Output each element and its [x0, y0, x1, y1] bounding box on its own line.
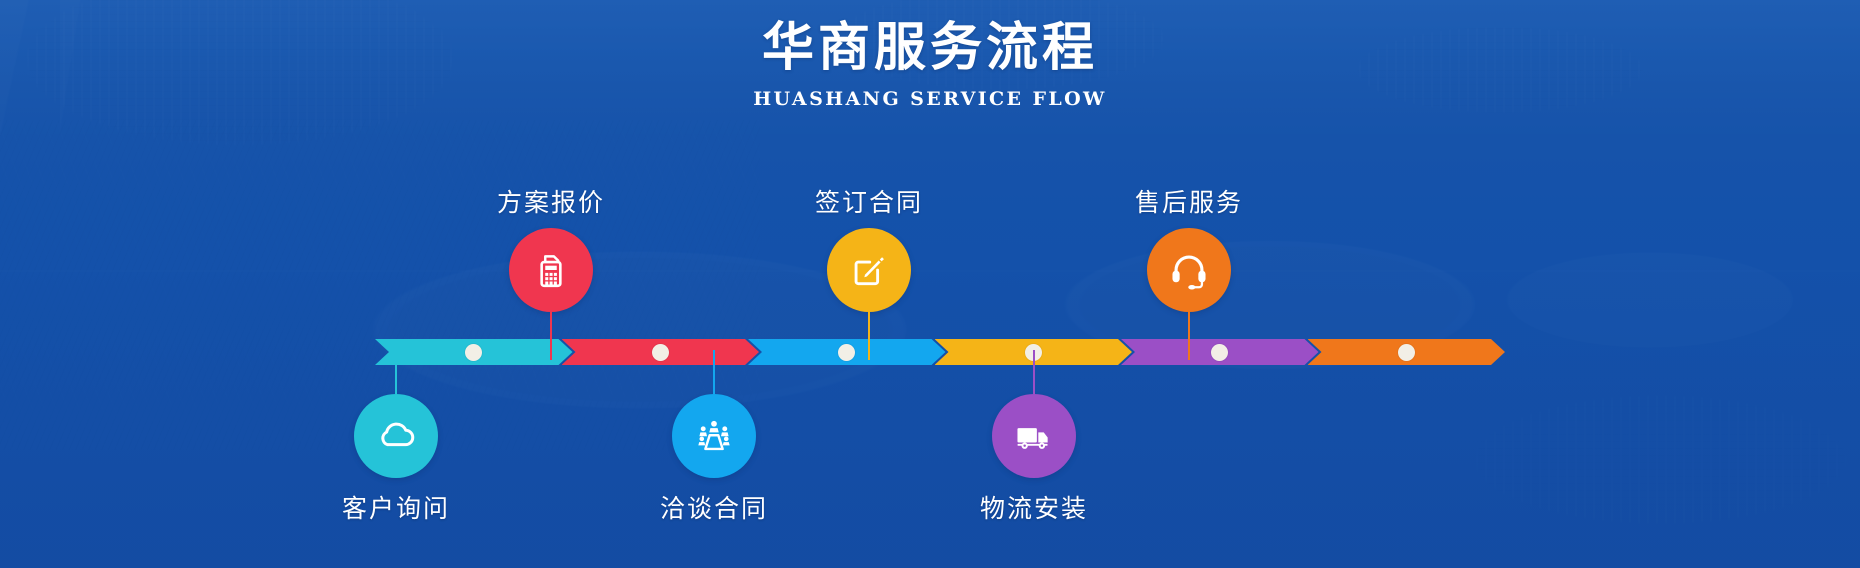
step-label-2: 方案报价: [451, 183, 651, 219]
page-title: 华商服务流程: [0, 18, 1860, 79]
ribbon-segment-1[interactable]: [375, 339, 573, 365]
ribbon-node-1: [465, 344, 482, 361]
step-label-4: 签订合同: [769, 183, 969, 219]
page-subtitle: HUASHANG SERVICE FLOW: [0, 88, 1860, 110]
flow-step-contract-negotiation[interactable]: 洽谈合同: [614, 394, 814, 525]
step-icon-bubble-6[interactable]: [1147, 228, 1231, 312]
step-icon-bubble-2[interactable]: [509, 228, 593, 312]
ribbon-node-2: [652, 344, 669, 361]
stem-4: [868, 312, 870, 360]
sign-contract-pen-icon: [846, 247, 892, 293]
flow-step-customer-inquiry[interactable]: 客户询问: [296, 394, 496, 525]
step-label-6: 售后服务: [1089, 183, 1289, 219]
banner-headings: 华商服务流程 HUASHANG SERVICE FLOW: [0, 18, 1860, 110]
meeting-table-icon: [691, 413, 737, 459]
cloud-icon: [373, 413, 419, 459]
step-icon-bubble-5[interactable]: [992, 394, 1076, 478]
ribbon-node-6: [1398, 344, 1415, 361]
step-icon-bubble-4[interactable]: [827, 228, 911, 312]
step-label-5: 物流安装: [934, 489, 1134, 525]
flow-step-logistics-installation[interactable]: 物流安装: [934, 394, 1134, 525]
ribbon-segment-6[interactable]: [1308, 339, 1506, 365]
stem-2: [550, 312, 552, 360]
ribbon-segment-3[interactable]: [748, 339, 946, 365]
delivery-truck-icon: [1011, 413, 1057, 459]
stem-5: [1033, 350, 1035, 394]
ribbon-node-3: [838, 344, 855, 361]
stem-3: [713, 350, 715, 394]
calculator-icon: [528, 247, 574, 293]
ribbon-segment-2[interactable]: [562, 339, 760, 365]
step-label-1: 客户询问: [296, 489, 496, 525]
ribbon-node-5: [1211, 344, 1228, 361]
stem-6: [1188, 312, 1190, 360]
flow-ribbon: [375, 339, 1505, 365]
step-icon-bubble-1[interactable]: [354, 394, 438, 478]
flow-step-after-sales-service[interactable]: 售后服务: [1089, 183, 1289, 312]
flow-step-proposal-quote[interactable]: 方案报价: [451, 183, 651, 312]
ribbon-segment-5[interactable]: [1121, 339, 1319, 365]
stem-1: [395, 350, 397, 394]
step-icon-bubble-3[interactable]: [672, 394, 756, 478]
flow-step-sign-contract[interactable]: 签订合同: [769, 183, 969, 312]
service-flow-banner: 华商服务流程 HUASHANG SERVICE FLOW 客户询问 方案报价: [0, 0, 1860, 568]
headset-support-icon: [1166, 247, 1212, 293]
step-label-3: 洽谈合同: [614, 489, 814, 525]
